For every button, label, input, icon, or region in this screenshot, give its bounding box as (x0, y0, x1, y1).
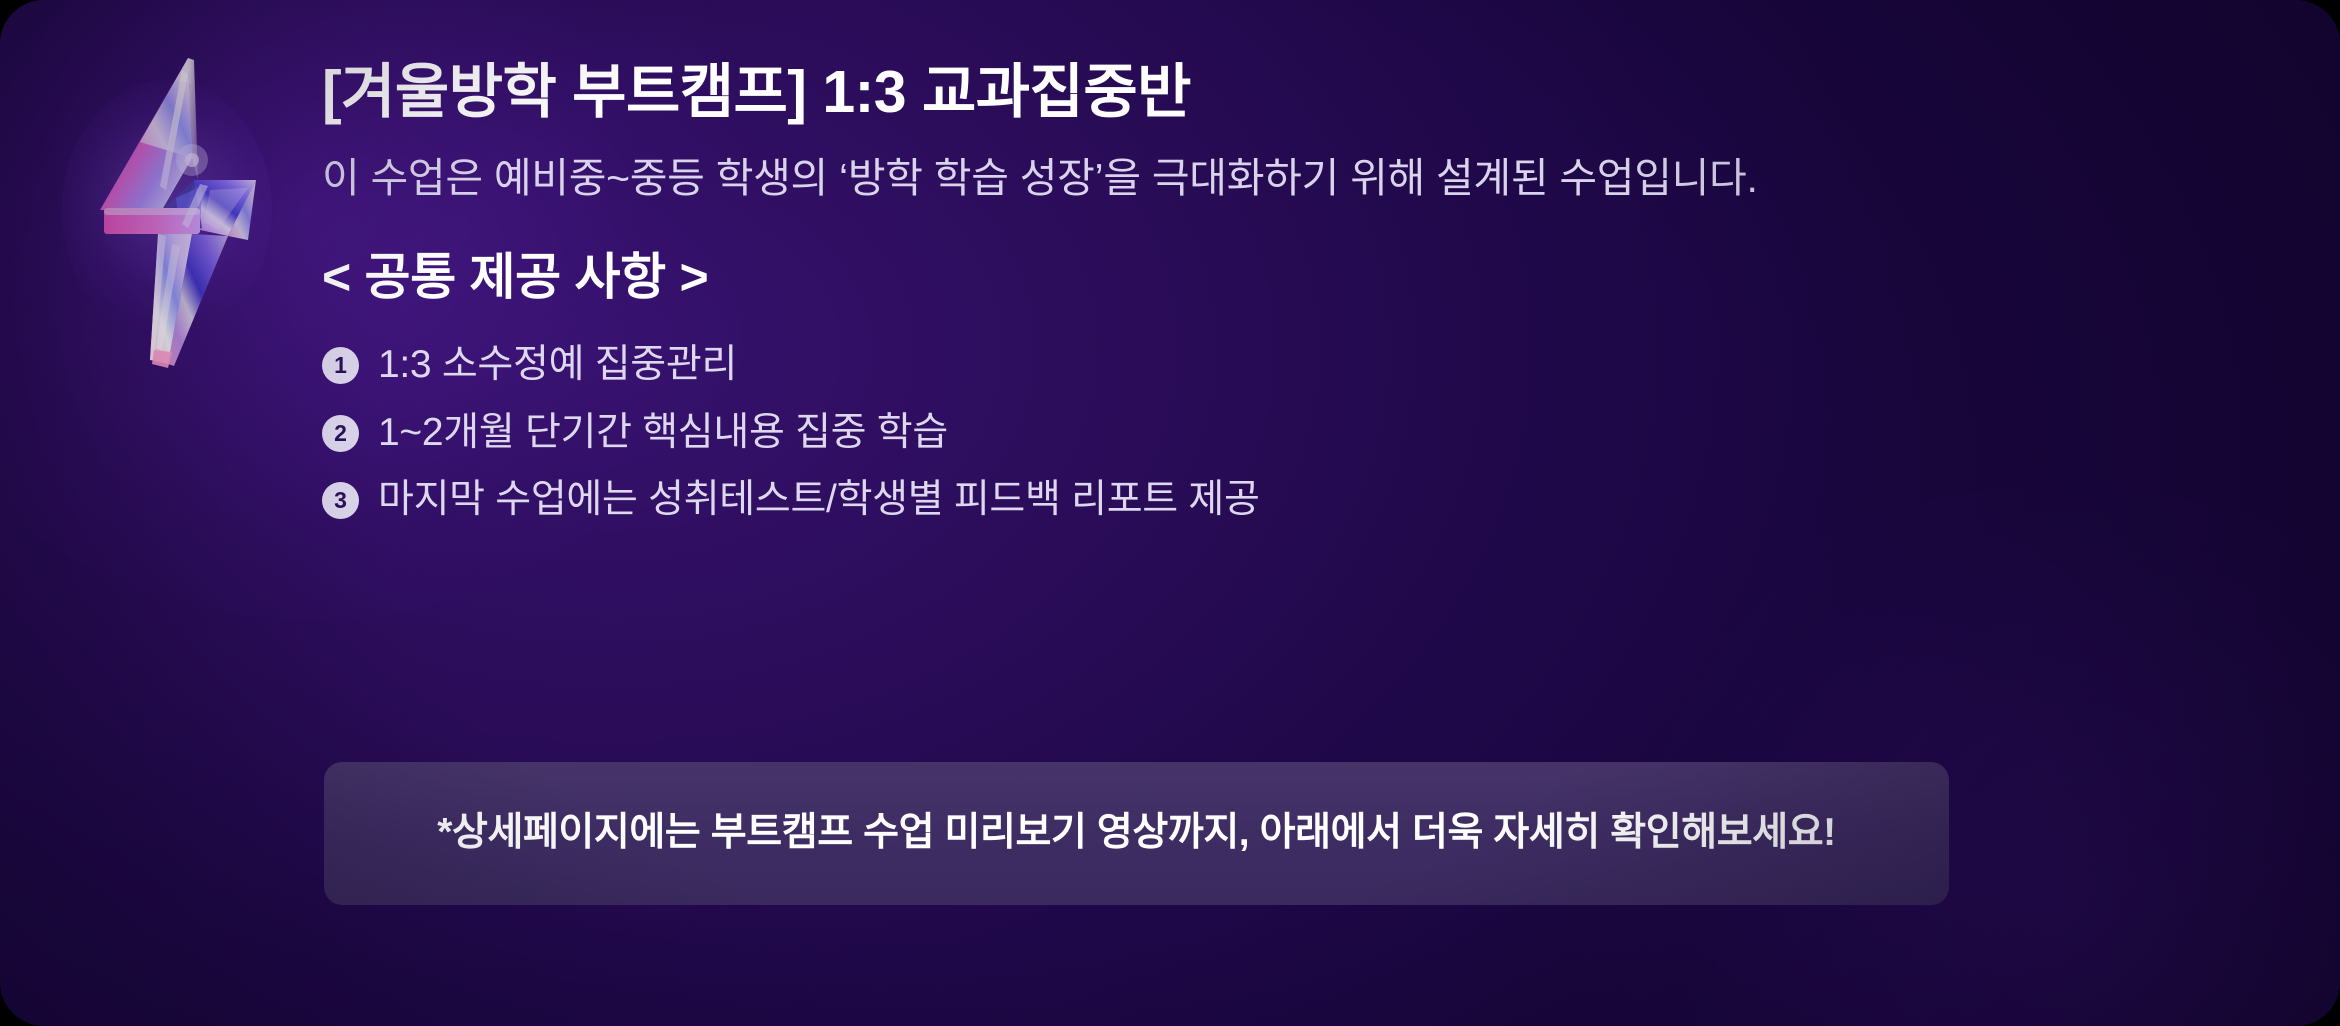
list-item-label: 마지막 수업에는 성취테스트/학생별 피드백 리포트 제공 (378, 476, 1260, 525)
list-item: 2 1~2개월 단기간 핵심내용 집중 학습 (322, 409, 2280, 458)
list-item: 3 마지막 수업에는 성취테스트/학생별 피드백 리포트 제공 (322, 476, 2280, 525)
number-badge-3: 3 (322, 482, 359, 519)
promo-card: [겨울방학 부트캠프] 1:3 교과집중반 이 수업은 예비중~중등 학생의 ‘… (0, 0, 2340, 1026)
page-title: [겨울방학 부트캠프] 1:3 교과집중반 (322, 58, 2280, 128)
number-badge-2: 2 (322, 415, 359, 452)
background-glow-right (1560, 486, 2340, 1026)
callout-text: *상세페이지에는 부트캠프 수업 미리보기 영상까지, 아래에서 더욱 자세히 … (437, 809, 1836, 858)
content-column: [겨울방학 부트캠프] 1:3 교과집중반 이 수업은 예비중~중등 학생의 ‘… (322, 58, 2280, 525)
callout-banner[interactable]: *상세페이지에는 부트캠프 수업 미리보기 영상까지, 아래에서 더욱 자세히 … (324, 762, 1949, 905)
feature-list: 1 1:3 소수정예 집중관리 2 1~2개월 단기간 핵심내용 집중 학습 3… (322, 341, 2280, 525)
list-item-label: 1~2개월 단기간 핵심내용 집중 학습 (378, 409, 948, 458)
list-item-label: 1:3 소수정예 집중관리 (378, 341, 737, 390)
list-item: 1 1:3 소수정예 집중관리 (322, 341, 2280, 390)
lightning-bolt-logo (42, 30, 282, 390)
page-subtitle: 이 수업은 예비중~중등 학생의 ‘방학 학습 성장’을 극대화하기 위해 설계… (322, 152, 2280, 205)
number-badge-1: 1 (322, 347, 359, 384)
section-heading: < 공통 제공 사항 > (322, 247, 2280, 307)
